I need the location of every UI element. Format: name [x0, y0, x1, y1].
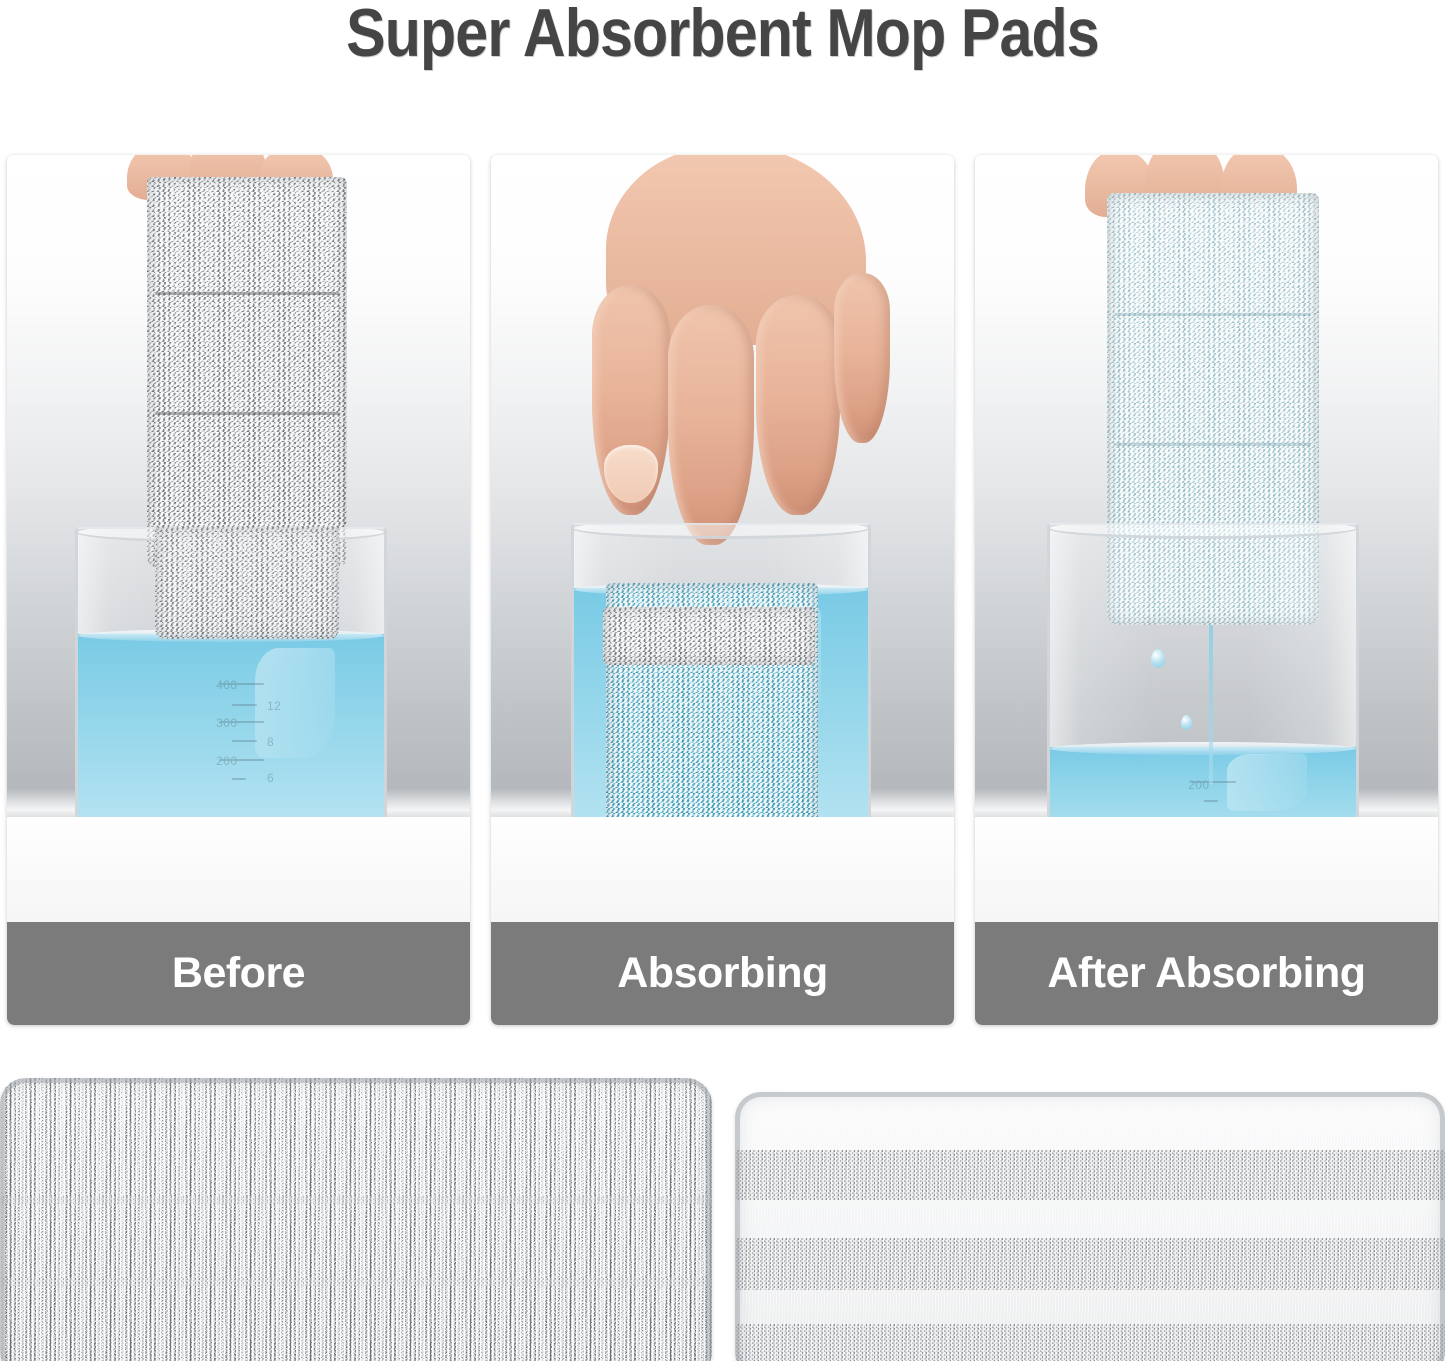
pad-border-edge	[0, 1078, 712, 1361]
caption-label: Absorbing	[617, 949, 827, 998]
pad-seam	[1115, 313, 1310, 316]
product-pad-grey-speckled	[0, 1078, 712, 1361]
pad-seam-band	[0, 1196, 712, 1204]
photo-after-absorbing: 200	[975, 155, 1438, 922]
pad-seam	[155, 412, 339, 415]
finger	[668, 305, 754, 545]
mop-pad-dry	[147, 177, 347, 567]
demo-panel-row: 400 12 300 8 200 6	[7, 155, 1438, 1025]
product-pad-white-striped	[735, 1092, 1445, 1361]
table-surface	[491, 817, 954, 922]
panel-caption-after-absorbing: After Absorbing	[975, 922, 1438, 1025]
infographic-page: Super Absorbent Mop Pads	[0, 0, 1445, 1361]
pad-nap-texture	[741, 1098, 1439, 1361]
water-stream	[1209, 625, 1213, 785]
pad-seam-band	[0, 1278, 712, 1286]
caption-label: After Absorbing	[1047, 949, 1365, 998]
beaker-measurement-ticks: 200	[1185, 764, 1258, 823]
demo-panel-before: 400 12 300 8 200 6	[7, 155, 470, 1025]
stripe-band	[735, 1324, 1445, 1361]
stripe-band	[735, 1238, 1445, 1290]
beaker-measurement-ticks: 400 12 300 8 200 6	[213, 675, 286, 795]
product-pad-row	[0, 1070, 1445, 1361]
pad-nap-texture	[6, 1084, 706, 1361]
pad-border-edge	[735, 1092, 1445, 1361]
page-title: Super Absorbent Mop Pads	[94, 0, 1351, 70]
pad-seam	[155, 292, 339, 295]
demo-panel-after-absorbing: 200 After Absorbing	[975, 155, 1438, 1025]
caption-label: Before	[172, 949, 305, 998]
demo-panel-absorbing: Absorbing	[491, 155, 954, 1025]
panel-caption-absorbing: Absorbing	[491, 922, 954, 1025]
hand-pressing	[586, 155, 886, 505]
finger	[834, 273, 890, 443]
panel-caption-before: Before	[7, 922, 470, 1025]
photo-absorbing	[491, 155, 954, 922]
finger	[756, 295, 840, 515]
table-surface	[7, 817, 470, 922]
photo-before: 400 12 300 8 200 6	[7, 155, 470, 922]
mop-pad-dry-top	[603, 607, 815, 665]
pad-seam	[1115, 443, 1310, 446]
stripe-band	[735, 1150, 1445, 1200]
water-drop	[1151, 649, 1165, 668]
mop-pad-dry-submerged-part	[155, 527, 339, 639]
table-surface	[975, 817, 1438, 922]
water-drop	[1181, 715, 1192, 730]
